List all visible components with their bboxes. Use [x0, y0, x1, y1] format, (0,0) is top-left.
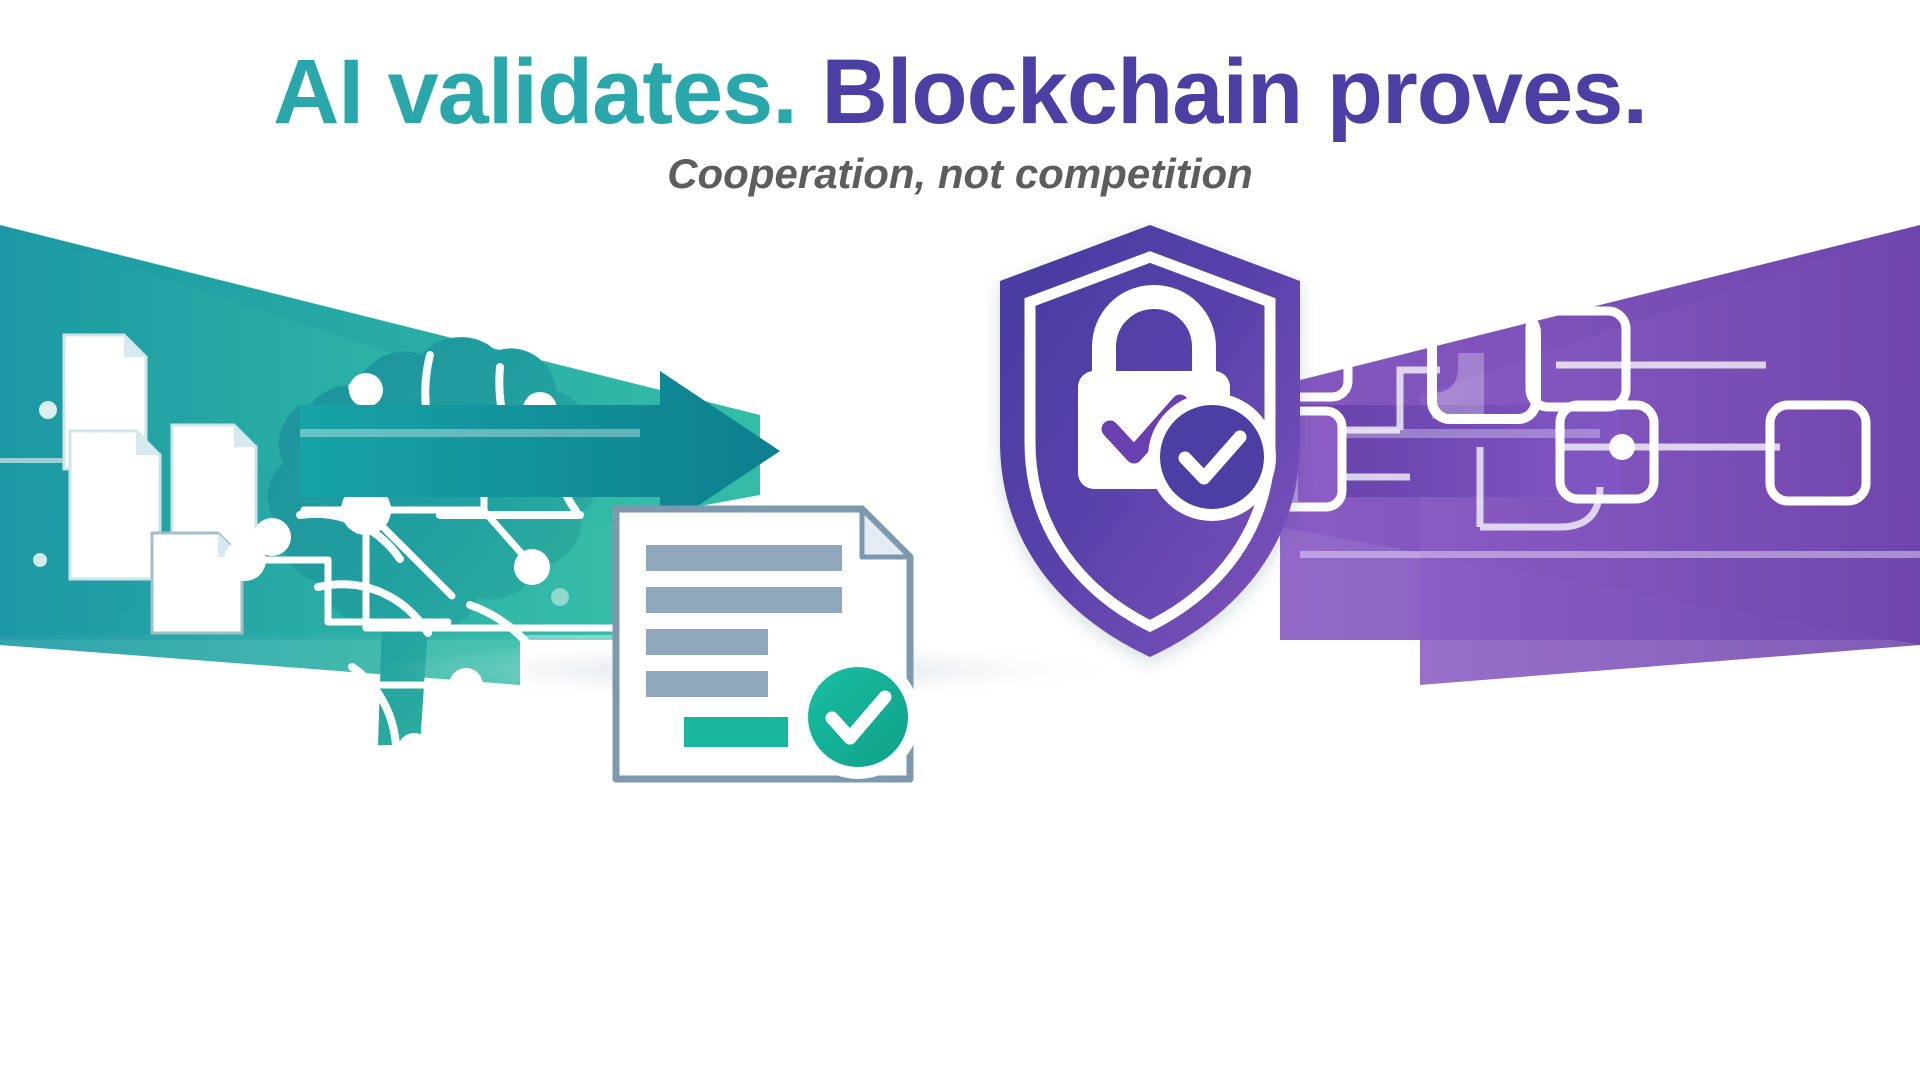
headline-ai-segment: AI validates. [273, 41, 797, 143]
illustration [0, 215, 1920, 915]
document-icon [70, 431, 160, 579]
dot-decoration [39, 401, 57, 419]
certificate-highlight-bar [684, 717, 788, 747]
page-title: AI validates. Blockchain proves. [0, 44, 1920, 141]
dot-decoration [33, 553, 47, 567]
verified-badge [1148, 393, 1276, 521]
certificate-seal-badge [796, 655, 920, 779]
network-node-dot [1609, 434, 1635, 460]
headline-blockchain-segment: Blockchain proves. [797, 41, 1647, 143]
infographic-canvas: AI validates. Blockchain proves. Coopera… [0, 0, 1920, 1080]
page-subtitle: Cooperation, not competition [0, 150, 1920, 198]
